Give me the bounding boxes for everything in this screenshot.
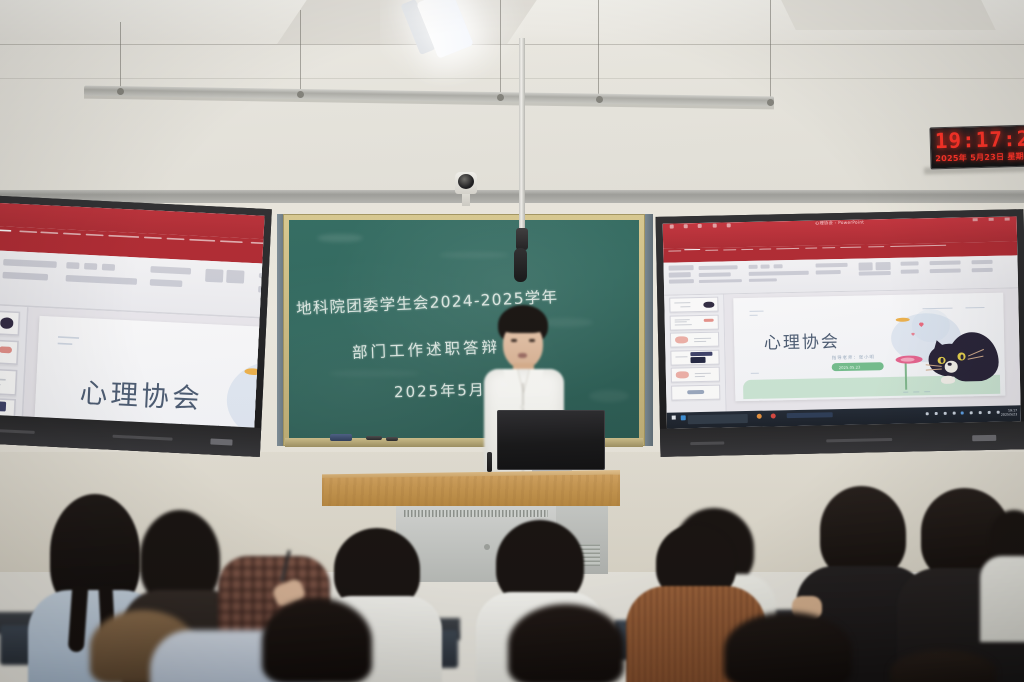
left-slide-canvas[interactable]: 心理协会 指导老师：张小明 2025.05.23 [31,316,265,428]
right-taskbar-date: 2025/5/23 [1001,412,1017,416]
right-slide-subtitle: 指导老师：张小明 [832,354,875,361]
rail-wire-1 [120,22,121,92]
right-taskbar-clock: 19:17 2025/5/23 [1001,408,1018,416]
left-slide-title: 心理协会 [79,370,204,416]
right-thumb-4[interactable] [670,349,720,365]
right-slide-cat-illustration [923,322,1003,385]
right-thumb-1[interactable] [669,297,719,313]
rail-clip-5 [767,99,774,106]
left-panel-screen[interactable]: 心理协会 - PowerPoint [0,202,265,427]
audience-member-10 [980,510,1024,640]
rail-wire-2 [300,10,301,94]
rail-wire-4 [598,0,599,98]
audience-member-15 [716,612,864,682]
right-slide-date-label: 2025.05.23 [839,364,861,369]
chalkboard [289,220,639,438]
right-thumb-5[interactable] [670,367,720,383]
right-start-button-icon[interactable] [672,416,676,420]
podium-monitor[interactable] [497,410,605,470]
left-interactive-flat-panel[interactable]: 心理协会 - PowerPoint [0,195,272,457]
audience-15-hair [724,612,852,682]
right-search-box[interactable] [688,414,748,425]
ceiling-mic-joint [516,228,528,250]
clock-date: 2025年 5月23日 星期五 [935,151,1024,165]
right-thumb-3[interactable] [670,332,720,348]
right-interactive-flat-panel[interactable]: 心理协会 - PowerPoint [656,209,1024,457]
chalk-stick-2[interactable] [386,437,398,441]
blackboard-eraser[interactable] [330,434,352,441]
right-slide-canvas[interactable]: 心理协会 指导老师：张小明 2025.05.23 [733,293,1005,401]
presenter-hair-front [500,311,546,333]
audience-8-hair [820,486,906,578]
left-ppt-stage: 心理协会 指导老师：张小明 2025.05.23 [19,307,265,427]
right-panel-logo [972,435,996,442]
audience-14-hair [508,604,624,682]
led-wall-clock: 19:17:22 2025年 5月23日 星期五 [929,125,1024,170]
right-ppt-stage: 心理协会 指导老师：张小明 2025.05.23 [724,288,1020,411]
rail-wire-3 [500,0,501,96]
ceiling-microphone [514,248,527,282]
ceiling-beam-right [776,0,996,30]
audience-member-14 [500,604,636,682]
right-panel-screen[interactable]: 心理协会 - PowerPoint [663,216,1021,428]
right-slide-date-button[interactable]: 2025.05.23 [832,362,883,371]
camera-stalk [462,192,470,206]
rail-clip-1 [117,88,124,95]
right-thumb-6[interactable] [671,384,721,400]
camera-lens-icon [458,174,474,189]
right-ppt-thumbnail-panel[interactable] [664,294,727,412]
ceiling-mic-pole [519,38,525,234]
right-slide-title: 心理协会 [764,327,841,354]
audience-10-shirt [980,556,1024,642]
classroom-scene: 19:17:22 2025年 5月23日 星期五 地科院团委学生会2024-20… [0,0,1024,682]
left-thumb-1[interactable] [0,308,21,336]
podium-vent-grille [404,510,548,517]
audience-member-16 [884,650,1004,682]
left-panel-logo [210,439,232,446]
right-ppt-app-title: 心理协会 - PowerPoint [815,220,864,227]
wall-conduit-strip [0,190,1024,203]
podium-gooseneck-mic [487,452,492,472]
clock-time: 19:17:22 [934,126,1024,153]
rail-clip-2 [297,91,304,98]
left-thumb-3[interactable] [0,367,18,395]
rail-wire-5 [770,0,771,100]
right-thumb-2[interactable] [669,314,719,330]
audience-13-hair [262,598,372,682]
rail-clip-3 [497,94,504,101]
audience-16-hair [890,650,996,682]
rail-clip-4 [596,96,603,103]
audience-member-13 [254,598,384,682]
left-thumb-2[interactable] [0,337,19,365]
chalk-stick-1[interactable] [366,436,382,440]
